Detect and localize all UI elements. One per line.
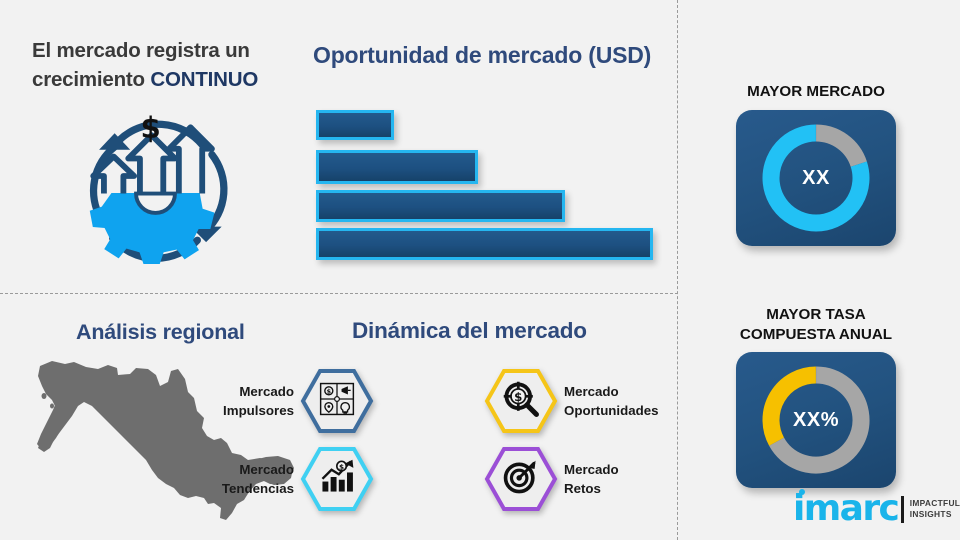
vertical-divider [677,0,678,540]
dynamics-heading: Dinámica del mercado [352,318,587,344]
opportunity-bar-chart [316,110,661,265]
dynamics-item-label: Mercado Impulsores [223,382,294,420]
bar-1 [316,110,394,140]
dynamics-item-3[interactable]: Mercado Tendencias $ [214,446,374,512]
dynamics-item-4[interactable]: Mercado Retos [484,446,619,512]
dynamics-item-label: Mercado Tendencias [222,460,294,498]
svg-text:$: $ [327,388,331,395]
dynamics-item-label: Mercado Retos [564,460,619,498]
donut-value-1: XX [802,167,830,190]
bar-2 [316,150,478,184]
slide-canvas: El mercado registra un crecimiento CONTI… [0,0,960,540]
logo-wordmark: imarc [793,492,898,526]
market-growth-gear-icon: $ [58,104,253,284]
donut-value-2: XX% [793,409,839,432]
bar-chart-growth-icon-hex[interactable]: $ [300,446,374,512]
dollar-sign-glyph: $ [140,111,160,145]
growth-heading-line1: El mercado registra un [32,39,250,62]
target-dart-icon-hex[interactable] [484,446,558,512]
logo-divider [901,496,904,523]
bar-4 [316,228,653,260]
magnifier-dollar-icon: $ [501,379,541,424]
target-dart-icon [501,457,541,502]
dynamics-item-1[interactable]: Mercado Impulsores $ [214,368,374,434]
dynamics-item-label: Mercado Oportunidades [564,382,659,420]
magnifier-dollar-icon-hex[interactable]: $ [484,368,558,434]
growth-heading-line2: crecimiento [32,68,150,91]
panel-title-1: MAYOR MERCADO [696,82,936,102]
largest-market-donut: XX [736,110,896,246]
puzzle-drivers-icon: $ [317,379,357,424]
growth-heading-accent: CONTINUO [150,68,258,91]
opportunity-heading: Oportunidad de mercado (USD) [313,42,651,69]
puzzle-drivers-icon-hex[interactable]: $ [300,368,374,434]
logo-dot-icon [799,489,805,495]
bar-3 [316,190,565,222]
dynamics-item-2[interactable]: $ Mercado Oportunidades [484,368,659,434]
growth-heading: El mercado registra un crecimiento CONTI… [32,36,294,94]
bar-chart-growth-icon: $ [317,457,357,502]
highest-cagr-donut: XX% [736,352,896,488]
svg-text:$: $ [514,389,522,403]
panel-title-2: MAYOR TASA COMPUESTA ANUAL [696,305,936,345]
logo-tagline: IMPACTFUL INSIGHTS [910,498,960,520]
imarc-logo: imarc IMPACTFUL INSIGHTS [793,492,960,526]
horizontal-divider [0,293,678,294]
svg-text:$: $ [339,462,344,471]
region-heading: Análisis regional [76,320,245,345]
